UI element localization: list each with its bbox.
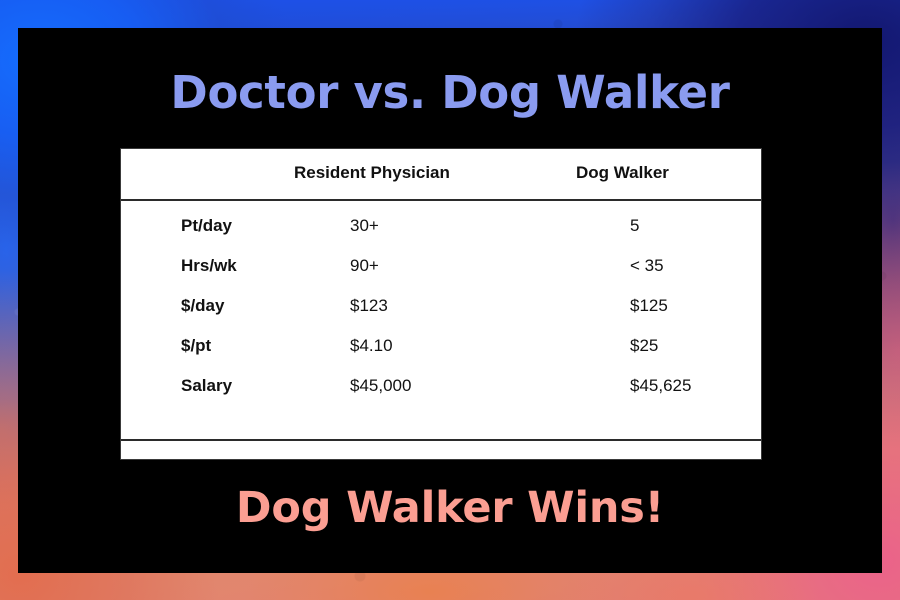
slide-title: Doctor vs. Dog Walker	[18, 66, 882, 119]
black-slide-panel: Doctor vs. Dog Walker Resident Physician…	[18, 28, 882, 573]
row-label-dollar-pt: $/pt	[181, 335, 211, 357]
table-row: Hrs/wk 90+ < 35	[121, 255, 761, 295]
table-row: $/pt $4.10 $25	[121, 335, 761, 375]
comparison-table: Resident Physician Dog Walker Pt/day 30+…	[120, 148, 762, 460]
column-header-resident-physician: Resident Physician	[294, 163, 450, 183]
row-label-salary: Salary	[181, 375, 232, 397]
table-row: $/day $123 $125	[121, 295, 761, 335]
cell-dollar-day-resident-physician: $123	[350, 295, 388, 317]
table-header-row: Resident Physician Dog Walker	[121, 149, 761, 199]
row-label-dollar-day: $/day	[181, 295, 224, 317]
row-label-hrs-wk: Hrs/wk	[181, 255, 237, 277]
table-footer-strip	[121, 441, 761, 459]
cell-hrs-wk-resident-physician: 90+	[350, 255, 379, 277]
cell-hrs-wk-dog-walker: < 35	[630, 255, 664, 277]
row-label-pt-day: Pt/day	[181, 215, 232, 237]
slide-canvas: Doctor vs. Dog Walker Resident Physician…	[0, 0, 900, 600]
column-header-dog-walker: Dog Walker	[576, 163, 669, 183]
cell-dollar-pt-dog-walker: $25	[630, 335, 658, 357]
cell-pt-day-resident-physician: 30+	[350, 215, 379, 237]
cell-salary-resident-physician: $45,000	[350, 375, 411, 397]
cell-salary-dog-walker: $45,625	[630, 375, 691, 397]
cell-dollar-day-dog-walker: $125	[630, 295, 668, 317]
cell-pt-day-dog-walker: 5	[630, 215, 639, 237]
table-body: Pt/day 30+ 5 Hrs/wk 90+ < 35 $/day $123 …	[121, 201, 761, 439]
slide-caption: Dog Walker Wins!	[18, 483, 882, 533]
cell-dollar-pt-resident-physician: $4.10	[350, 335, 393, 357]
table-row: Pt/day 30+ 5	[121, 215, 761, 255]
table-row: Salary $45,000 $45,625	[121, 375, 761, 415]
